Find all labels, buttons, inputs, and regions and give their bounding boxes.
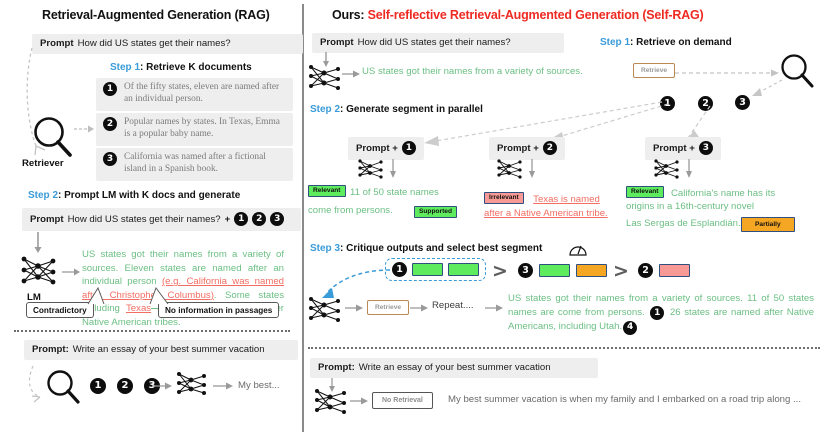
right-step1-text: Retrieve on demand — [636, 37, 732, 48]
left-prompt-text: How did US states get their names? — [78, 38, 231, 49]
final-lm-to-retrieve-arrow — [345, 303, 363, 313]
right-first-generation: US states got their names from a variety… — [362, 65, 583, 79]
bottom-lm-to-answer-arrow — [213, 381, 233, 391]
left-bottom-prompt-label: Prompt: — [32, 344, 69, 355]
right-step3-number: Step 3 — [310, 243, 340, 254]
branch-2-down-arrow — [527, 159, 537, 179]
no-retrieval-token: No Retrieval — [372, 392, 433, 409]
doc-text: California was named after a fictional i… — [124, 152, 285, 176]
left-bottom-prompt-text: Write an essay of your best summer vacat… — [73, 344, 265, 355]
repeat-to-final-arrow — [485, 303, 503, 313]
retriever-to-docs-arrow — [74, 124, 94, 134]
branch-3-text-1: California's name has its — [671, 188, 775, 199]
branch-3-text-3: Las Sergas de Esplandián. — [626, 217, 741, 231]
branch-1-down-arrow — [388, 159, 398, 179]
rank-1-badge: 1 — [392, 262, 407, 277]
left-panel-title: Retrieval-Augmented Generation (RAG) — [42, 8, 270, 22]
search-to-docs-arrow — [748, 78, 786, 98]
prompt-doc-badge-3: 3 — [270, 212, 284, 226]
branch-2-prompt-label: Prompt + — [497, 143, 539, 154]
left-step2-heading: Step 2: Prompt LM with K docs and genera… — [28, 190, 240, 201]
branch-2-output: Irrelevant Texas is named — [484, 189, 600, 207]
final-inline-badge-1: 1 — [650, 306, 664, 320]
language-model-icon — [18, 253, 62, 289]
retriever-magnifier-icon — [30, 115, 76, 161]
right-bottom-prompt-bar: Prompt: Write an essay of your best summ… — [310, 358, 598, 378]
left-prompt-to-lm-arrow — [32, 232, 44, 254]
branch-1-token-supported: Supported — [414, 203, 457, 221]
rank-2-bar-1 — [539, 264, 570, 277]
bottom-docs-to-lm-arrow — [152, 381, 172, 391]
left-prompt2-plus: + — [225, 214, 231, 225]
retrieve-to-repeat-arrow — [410, 303, 428, 313]
right-bottom-answer: My best summer vacation is when my famil… — [448, 394, 801, 405]
rank-1-bar-2 — [448, 263, 479, 276]
branch-3-down-arrow — [684, 159, 694, 179]
figure-root: Retrieval-Augmented Generation (RAG) Pro… — [0, 0, 829, 435]
right-step3-text: Critique outputs and select best segment — [346, 243, 542, 254]
branch-3-output: Relevant California's name has its — [626, 183, 775, 201]
rank-separator-1: > — [492, 262, 508, 281]
branch-1-lm-icon — [356, 157, 386, 181]
bottom-language-model-icon — [174, 369, 210, 399]
branch-1-prompt-label: Prompt + — [356, 143, 398, 154]
critique-gauge-icon — [568, 240, 588, 258]
right-bottom-prompt-text: Write an essay of your best summer vacat… — [359, 362, 551, 373]
final-inline-badge-2: 4 — [623, 321, 637, 335]
lm-to-output-arrow — [62, 267, 80, 277]
rank-2-badge: 3 — [518, 263, 533, 278]
left-bottom-prompt-bar: Prompt: Write an essay of your best summ… — [24, 340, 298, 360]
doc-number-badge: 2 — [103, 117, 117, 131]
rank-3-bar-1 — [659, 264, 690, 277]
final-answer: US states got their names from a variety… — [508, 292, 814, 335]
token-relevant: Relevant — [626, 186, 664, 198]
doc-number-badge: 3 — [103, 152, 117, 166]
left-prompt2-text: How did US states get their names? — [68, 214, 221, 225]
branch-1-text-1: 11 of 50 state names — [350, 187, 439, 198]
branch-3-token-partially: Partially — [741, 216, 795, 234]
doc-text: Of the fifty states, eleven are named af… — [124, 82, 285, 106]
prompt-doc-badge-1: 1 — [234, 212, 248, 226]
ranking-selected-group[interactable]: 1 — [385, 258, 486, 281]
repeat-label: Repeat.... — [432, 300, 474, 311]
callout-contradictory: Contradictory — [26, 302, 94, 318]
retrieve-token-1: Retrieve — [633, 63, 675, 78]
callout-no-information: No information in passages — [158, 302, 279, 318]
right-language-model-icon-1 — [306, 62, 346, 94]
bottom-doc-badge-1: 1 — [90, 378, 106, 394]
right-bottom-lm-arrow — [350, 396, 368, 406]
rank-1-bar-1 — [412, 263, 443, 276]
branch-2-lm-icon — [495, 157, 525, 181]
rank-3-badge: 2 — [638, 263, 653, 278]
branch-2-doc-badge: 2 — [543, 141, 557, 155]
branch-1-text-2: come from persons. — [308, 204, 393, 218]
right-section-divider — [308, 347, 820, 349]
left-bottom-doc-badges: 1 2 3 — [90, 378, 160, 394]
right-step2-number: Step 2 — [310, 104, 340, 115]
left-doc-1: 1 Of the fifty states, eleven are named … — [96, 78, 293, 111]
right-step1-heading: Step 1: Retrieve on demand — [600, 37, 732, 48]
right-step1-number: Step 1 — [600, 37, 630, 48]
callout-pointer-2 — [148, 288, 172, 304]
left-prompt2-label: Prompt — [30, 214, 64, 225]
right-prompt-bar: Prompt How did US states get their names… — [312, 33, 564, 53]
retriever-label: Retriever — [22, 158, 64, 169]
right-lm-to-text-arrow — [342, 69, 360, 79]
left-prompt-with-docs-bar: Prompt How did US states get their names… — [22, 208, 301, 231]
token-irrelevant: Irrelevant — [484, 192, 524, 204]
callout-pointer-1 — [86, 288, 108, 304]
token-relevant: Relevant — [308, 185, 346, 197]
output-hallucination-2: Texas — [126, 303, 151, 314]
branch-2-text-1: Texas is named — [533, 194, 600, 205]
right-title-prefix: Ours: — [332, 8, 368, 22]
branch-3-lm-icon — [652, 157, 682, 181]
right-title-main: Self-reflective Retrieval-Augmented Gene… — [368, 8, 704, 22]
branch-3-prompt-label: Prompt + — [653, 143, 695, 154]
right-step3-heading: Step 3: Critique outputs and select best… — [310, 243, 542, 254]
branch-2-text-2: after a Native American tribe. — [484, 208, 608, 219]
rank-separator-2: > — [613, 262, 629, 281]
panel-divider — [302, 4, 304, 432]
final-language-model-icon — [306, 294, 346, 326]
right-prompt-label: Prompt — [320, 37, 354, 48]
rank-2-bar-2 — [576, 264, 607, 277]
doc-text: Popular names by states. In Texas, Emma … — [124, 117, 285, 141]
token-supported: Supported — [414, 206, 457, 218]
left-step2-text: Prompt LM with K docs and generate — [64, 190, 240, 201]
prompt-doc-badge-2: 2 — [252, 212, 266, 226]
right-bottom-language-model-icon — [312, 386, 352, 418]
left-step1-heading: Step 1: Retrieve K documents — [110, 62, 252, 73]
branch-1-output: Relevant 11 of 50 state names — [308, 182, 460, 200]
left-bottom-answer: My best... — [238, 380, 280, 391]
ranking-group-3[interactable]: 2 — [638, 263, 690, 278]
branch-1-doc-badge: 1 — [402, 141, 416, 155]
left-step2-number: Step 2 — [28, 190, 58, 201]
token-partially: Partially — [741, 217, 795, 232]
branch-3-text-2: origins in a 16th-century novel — [626, 200, 754, 214]
left-section-divider — [14, 330, 290, 332]
left-step1-text: Retrieve K documents — [146, 62, 252, 73]
retrieve-token-2: Retrieve — [367, 300, 409, 315]
bottom-doc-badge-2: 2 — [117, 378, 133, 394]
bottom-retriever-magnifier-icon — [44, 368, 82, 406]
left-step1-number: Step 1 — [110, 62, 140, 73]
ranking-group-2[interactable]: 3 — [518, 263, 607, 278]
branch-3-doc-badge: 3 — [699, 141, 713, 155]
doc-number-badge: 1 — [103, 82, 117, 96]
right-panel-title: Ours: Self-reflective Retrieval-Augmente… — [332, 8, 704, 22]
left-doc-3: 3 California was named after a fictional… — [96, 148, 293, 181]
left-doc-2: 2 Popular names by states. In Texas, Emm… — [96, 113, 293, 146]
right-prompt-text: How did US states get their names? — [358, 37, 511, 48]
right-bottom-prompt-label: Prompt: — [318, 362, 355, 373]
